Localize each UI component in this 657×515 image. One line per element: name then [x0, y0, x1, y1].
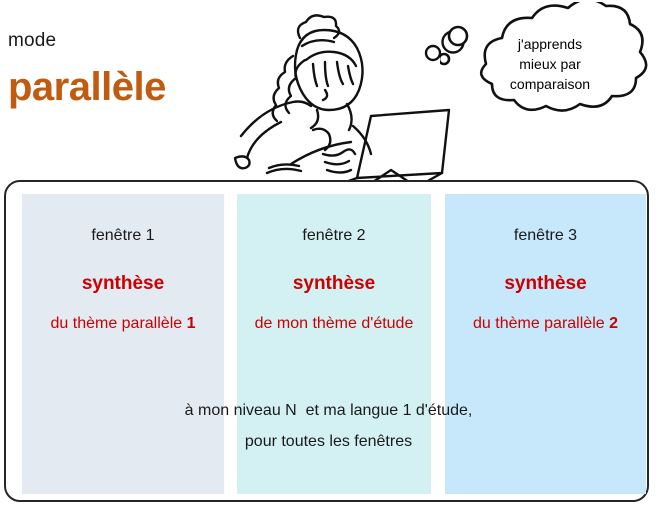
synthesis-word-2: synthèse [237, 272, 431, 295]
synthesis-word-3: synthèse [445, 272, 646, 295]
window-label-2: fenêtre 2 [237, 226, 431, 246]
synthesis-desc-text-2: de mon thème [255, 315, 357, 332]
synthesis-desc-emphasis-1: 1 [187, 315, 196, 332]
person-at-laptop-line-drawing [205, 0, 470, 188]
synthesis-desc-emphasis-3: 2 [609, 315, 618, 332]
window-label-3: fenêtre 3 [445, 226, 646, 246]
thought-line-3: comparaison [470, 74, 630, 94]
window-label-1: fenêtre 1 [22, 226, 224, 246]
synthesis-desc-2: de mon thème d'étude [237, 313, 431, 335]
panel-footer-text: à mon niveau N et ma langue 1 d'étude, p… [6, 395, 651, 457]
mode-value: parallèle [8, 64, 228, 110]
thought-line-1: j'apprends [470, 34, 630, 54]
thought-bubble-text: j'apprends mieux par comparaison [470, 34, 630, 94]
footer-line-1: à mon niveau N et ma langue 1 d'étude, [6, 395, 651, 426]
synthesis-desc-text-1: du thème parallèle [51, 315, 183, 332]
mode-label: mode [8, 30, 228, 52]
synthesis-word-1: synthèse [22, 272, 224, 295]
synthesis-desc-text-3: du thème parallèle [473, 315, 605, 332]
footer-line-2: pour toutes les fenêtres [6, 426, 651, 457]
parallel-mode-panel: fenêtre 1 synthèse du thème parallèle 1 … [4, 180, 649, 502]
synthesis-desc-emphasis-2: d'étude [361, 315, 413, 332]
mode-header: mode parallèle [8, 30, 228, 110]
thought-line-2: mieux par [470, 54, 630, 74]
synthesis-desc-1: du thème parallèle 1 [22, 313, 224, 335]
synthesis-desc-3: du thème parallèle 2 [445, 313, 646, 335]
